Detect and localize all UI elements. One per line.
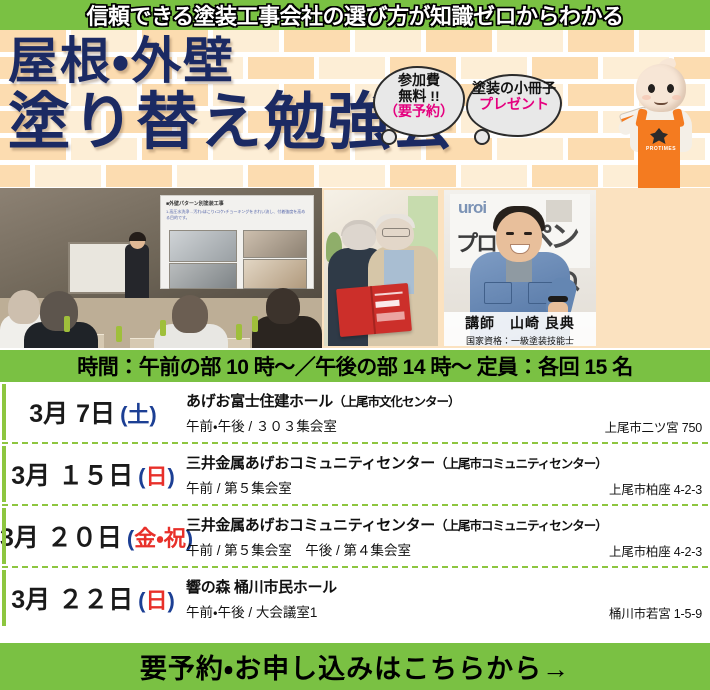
brick-row: [0, 165, 710, 187]
slide-body: 1.高圧水洗浄…汚れ・ほこり・コケ・チョーキングをきれい流し、付着強度を高める目…: [166, 209, 306, 221]
schedule-address: 上尾市柏座 4-2-3: [609, 541, 702, 560]
schedule-month: 3月: [29, 400, 68, 428]
couple-woman-head: [342, 224, 376, 250]
schedule-address: 桶川市若宮 1-5-9: [609, 603, 702, 622]
mascot-smile: [654, 96, 668, 105]
schedule-date: 3月２０日(金・祝): [0, 518, 186, 554]
slide-image: [243, 230, 307, 258]
seminar-attendee-head: [8, 290, 40, 324]
seminar-attendee-head: [172, 295, 208, 333]
top-banner-text: 信頼できる塗装工事会社の選び方が知識ゼロからわかる: [86, 0, 623, 31]
schedule-dayofweek: (日): [138, 588, 175, 613]
booklet-line: [376, 311, 405, 321]
slide-image: [169, 230, 237, 262]
schedule-row: 3月２２日(日)響の森 桶川市民ホール午前・午後 / 大会議室1桶川市若宮 1-…: [0, 568, 710, 628]
bubble-free-line3: （要予約）: [375, 104, 463, 120]
hero-section: 屋根・外壁 塗り替え勉強会 参加費 無料 !! （要予約） 塗装の小冊子 プレゼ…: [0, 30, 710, 188]
seminar-projection-screen: ■外壁パターン別塗装工事 1.高圧水洗浄…汚れ・ほこり・コケ・チョーキングをきれ…: [160, 195, 314, 289]
row-accent-bar: [2, 384, 6, 440]
schedule-date: 3月２２日(日): [0, 580, 186, 616]
cta-text: 要予約・お申し込みはこちらから→: [140, 647, 570, 686]
seminar-bottle: [116, 326, 122, 342]
schedule-row: 3月２０日(金・祝)三井金属あげおコミュニティセンター（上尾市コミュニティセンタ…: [0, 506, 710, 566]
seminar-speaker-hair: [129, 232, 146, 241]
mascot-cheek-right: [672, 95, 681, 100]
schedule-venue-sub: （上尾市文化センター）: [333, 395, 460, 409]
seminar-whiteboard: [68, 242, 132, 294]
photo-strip: ■外壁パターン別塗装工事 1.高圧水洗浄…汚れ・ほこり・コケ・チョーキングをきれ…: [0, 188, 710, 348]
callout-bubble-gift: 塗装の小冊子 プレゼント: [466, 74, 562, 137]
seminar-bottle: [236, 324, 242, 340]
slide-image: [169, 263, 237, 289]
schedule-venue-name: 三井金属あげおコミュニティセンター（上尾市コミュニティセンター）: [186, 514, 704, 535]
time-capacity-text: 時間：午前の部 10 時～／午後の部 14 時～ 定員：各回 15 名: [77, 351, 632, 381]
photo-couple-reading: [324, 190, 438, 346]
slide-title: ■外壁パターン別塗装工事: [166, 200, 224, 207]
signboard-text-top: uroi: [458, 198, 486, 218]
schedule-venue-name: あげお富士住建ホール（上尾市文化センター）: [186, 390, 704, 411]
seminar-bottle: [252, 316, 258, 332]
couple-man-glasses-icon: [382, 228, 410, 237]
seminar-attendee-head: [266, 288, 300, 324]
schedule-venue-name: 響の森 桶川市民ホール: [186, 576, 704, 597]
mascot-painter-doll: PROTIMES: [612, 62, 704, 188]
schedule-date: 3月7日(土): [0, 394, 186, 430]
schedule-row: 3月7日(土)あげお富士住建ホール（上尾市文化センター）午前・午後 / ３０３集…: [0, 382, 710, 442]
callout-bubble-free: 参加費 無料 !! （要予約）: [373, 66, 465, 137]
couple-red-booklet: [336, 283, 412, 337]
instructor-pocket: [484, 282, 512, 304]
seminar-attendee-head: [40, 291, 78, 331]
schedule-dayofweek: (金・祝): [127, 526, 193, 551]
schedule-venue-name: 三井金属あげおコミュニティセンター（上尾市コミュニティセンター）: [186, 452, 704, 473]
cta-bar[interactable]: 要予約・お申し込みはこちらから→: [0, 643, 710, 690]
booklet-line: [375, 291, 403, 295]
schedule-day: 7日: [76, 400, 115, 428]
instructor-head: [496, 212, 542, 262]
booklet-line: [375, 300, 399, 308]
photo-seminar-room: ■外壁パターン別塗装工事 1.高圧水洗浄…汚れ・ほこり・コケ・チョーキングをきれ…: [0, 188, 322, 348]
bubble-gift-line2: プレゼント: [468, 97, 560, 113]
mascot-eye-left: [648, 84, 655, 93]
seminar-speaker-body: [125, 244, 149, 304]
top-banner: 信頼できる塗装工事会社の選び方が知識ゼロからわかる: [0, 0, 710, 30]
instructor-qualification: 国家資格：一級塗装技能士: [444, 334, 596, 346]
schedule-day: ２０日: [47, 524, 122, 552]
schedule-day: ２２日: [58, 586, 133, 614]
row-accent-bar: [2, 508, 6, 564]
schedule-day: １５日: [58, 462, 133, 490]
schedule-venue-sub: （上尾市コミュニティセンター）: [435, 457, 607, 471]
instructor-eye-right: [524, 232, 532, 235]
seminar-bottle: [160, 320, 166, 336]
poster-root: 信頼できる塗装工事会社の選び方が知識ゼロからわかる 屋根・外壁 塗り替え勉強会 …: [0, 0, 710, 690]
time-capacity-bar: 時間：午前の部 10 時～／午後の部 14 時～ 定員：各回 15 名: [0, 350, 710, 382]
schedule-venue-sub: （上尾市コミュニティセンター）: [435, 519, 607, 533]
row-accent-bar: [2, 570, 6, 626]
instructor-name: 講師 山崎 良典: [444, 313, 596, 333]
mascot-eye-right: [667, 84, 674, 93]
photo-instructor: uroi ペンキぬり プロ 講師 山崎 良典 国家資格：一級塗装技能士: [444, 190, 596, 346]
schedule-address: 上尾市柏座 4-2-3: [609, 479, 702, 498]
schedule-row: 3月１５日(日)三井金属あげおコミュニティセンター（上尾市コミュニティセンター）…: [0, 444, 710, 504]
slide-image: [243, 259, 307, 289]
instructor-caption: 講師 山崎 良典 国家資格：一級塗装技能士: [444, 312, 596, 346]
bubble-free-line1: 参加費: [375, 73, 463, 89]
schedule-month: 3月: [11, 462, 50, 490]
row-accent-bar: [2, 446, 6, 502]
schedule-list: 3月7日(土)あげお富士住建ホール（上尾市文化センター）午前・午後 / ３０３集…: [0, 382, 710, 640]
schedule-month: 3月: [11, 586, 50, 614]
schedule-dayofweek: (日): [138, 464, 175, 489]
bubble-gift-line1: 塗装の小冊子: [468, 81, 560, 97]
schedule-dayofweek: (土): [120, 402, 157, 427]
instructor-eye-left: [506, 232, 514, 235]
seminar-bottle: [64, 316, 70, 332]
mascot-cheek-left: [642, 95, 651, 100]
bubble-free-line2: 無料 !!: [375, 89, 463, 105]
schedule-date: 3月１５日(日): [0, 456, 186, 492]
schedule-address: 上尾市二ツ宮 750: [605, 417, 702, 436]
mascot-logo-text: PROTIMES: [641, 146, 681, 152]
